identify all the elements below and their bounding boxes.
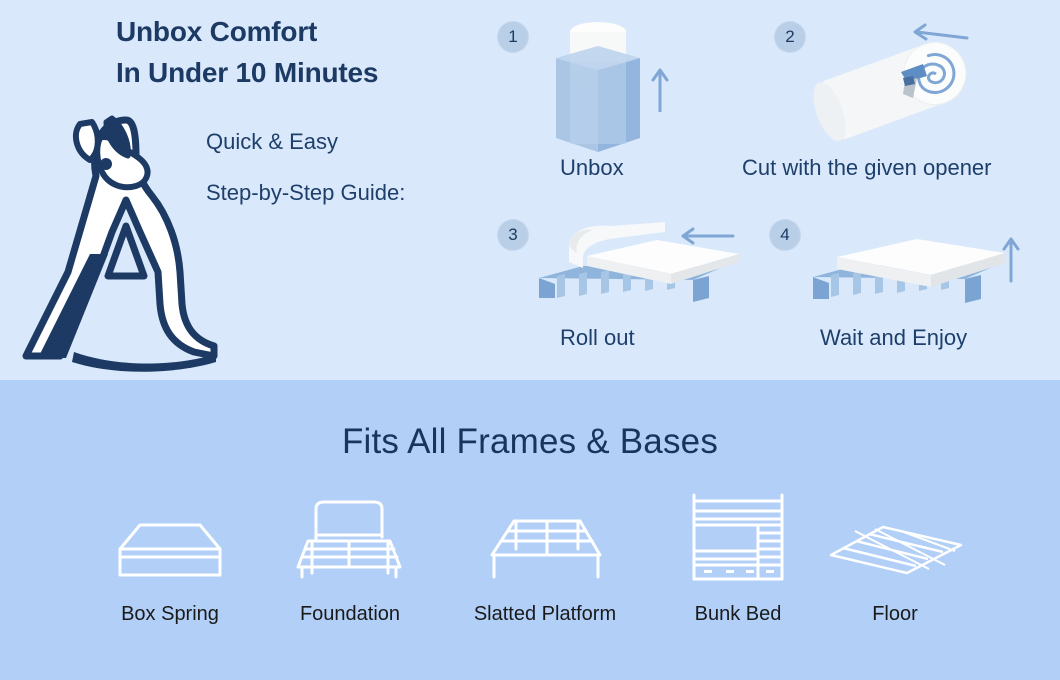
mattress-rolling-onto-frame-icon bbox=[525, 210, 755, 340]
top-section: Unbox Comfort In Under 10 Minutes Quick … bbox=[0, 0, 1060, 380]
step-1: 1 bbox=[480, 0, 770, 200]
frame-item-foundation: Foundation bbox=[260, 490, 440, 626]
bunk-bed-icon bbox=[648, 490, 828, 585]
frame-label-bunk-bed: Bunk Bed bbox=[648, 603, 828, 626]
frames-row: Box Spring bbox=[0, 490, 1060, 660]
headline-line-1: Unbox Comfort bbox=[116, 16, 317, 47]
frame-item-slatted-platform: Slatted Platform bbox=[455, 490, 635, 626]
box-with-mattress-icon bbox=[540, 10, 710, 165]
step-3-badge: 3 bbox=[498, 220, 528, 250]
frame-item-floor: Floor bbox=[805, 490, 985, 626]
floor-icon bbox=[805, 490, 985, 585]
frame-label-foundation: Foundation bbox=[260, 603, 440, 626]
headline-line-2: In Under 10 Minutes bbox=[116, 53, 516, 94]
step-2: 2 bbox=[750, 0, 1060, 200]
infographic-page: Unbox Comfort In Under 10 Minutes Quick … bbox=[0, 0, 1060, 680]
rolled-mattress-cutter-icon bbox=[805, 20, 1015, 155]
step-4: 4 bbox=[760, 200, 1060, 390]
step-2-label: Cut with the given opener bbox=[742, 155, 992, 181]
step-3: 3 bbox=[480, 200, 770, 390]
frame-label-slatted-platform: Slatted Platform bbox=[455, 603, 635, 626]
box-spring-icon bbox=[80, 490, 260, 585]
frame-label-floor: Floor bbox=[805, 603, 985, 626]
step-1-badge: 1 bbox=[498, 22, 528, 52]
frame-label-box-spring: Box Spring bbox=[80, 603, 260, 626]
kangaroo-a-logo bbox=[8, 104, 248, 372]
step-4-badge: 4 bbox=[770, 220, 800, 250]
step-1-label: Unbox bbox=[560, 155, 624, 181]
bottom-title: Fits All Frames & Bases bbox=[0, 422, 1060, 462]
bottom-section: Fits All Frames & Bases Box Spring bbox=[0, 380, 1060, 680]
page-title: Unbox Comfort In Under 10 Minutes bbox=[116, 12, 516, 93]
step-3-label: Roll out bbox=[560, 325, 635, 351]
frame-item-box-spring: Box Spring bbox=[80, 490, 260, 626]
step-4-label: Wait and Enjoy bbox=[820, 325, 967, 351]
frame-item-bunk-bed: Bunk Bed bbox=[648, 490, 828, 626]
slatted-platform-icon bbox=[455, 490, 635, 585]
mattress-expanded-on-frame-icon bbox=[805, 225, 1025, 340]
step-2-badge: 2 bbox=[775, 22, 805, 52]
foundation-bed-icon bbox=[260, 490, 440, 585]
